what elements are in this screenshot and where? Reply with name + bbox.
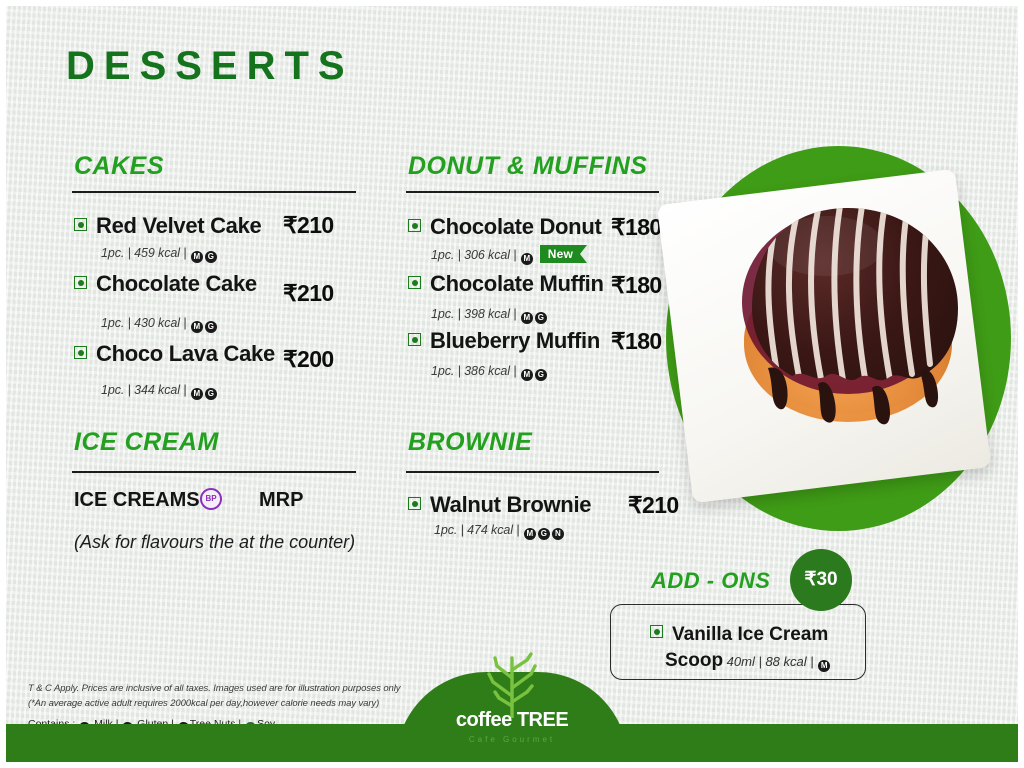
addon-item-meta: 40ml | 88 kcal |: [723, 654, 817, 669]
allergen-milk-icon: M: [521, 369, 533, 381]
veg-mark-icon: [408, 276, 421, 289]
terms-line-2: (*An average active adult requires 2000k…: [28, 697, 400, 712]
new-badge: New: [540, 245, 587, 263]
item-name: Chocolate Donut: [430, 214, 602, 239]
item-meta: 1pc. | 398 kcal | MG: [431, 307, 548, 324]
allergen-milk-icon: M: [521, 253, 533, 265]
allergen-milk-icon: M: [521, 312, 533, 324]
allergen-milk-icon: M: [191, 321, 203, 333]
veg-mark-icon: [74, 346, 87, 359]
item-price: ₹210: [283, 280, 334, 307]
item-price: ₹200: [283, 346, 334, 373]
terms-line-1: T & C Apply. Prices are inclusive of all…: [28, 682, 400, 697]
section-divider-ice-cream: [72, 471, 356, 473]
item-price: ₹180: [611, 328, 662, 355]
item-price: ₹180: [611, 214, 662, 241]
menu-item-chocolate-donut: Chocolate Donut: [408, 214, 602, 240]
menu-item-chocolate-cake: Chocolate Cake: [74, 271, 257, 297]
item-price: ₹210: [283, 212, 334, 239]
veg-mark-icon: [650, 625, 663, 638]
item-name: Red Velvet Cake: [96, 213, 262, 238]
section-heading-ice-cream: ICE CREAM: [74, 428, 219, 457]
menu-item-choco-lava-cake: Choco Lava Cake: [74, 341, 275, 367]
item-meta-text: 1pc. | 386 kcal |: [431, 364, 520, 378]
ice-cream-note: (Ask for flavours the at the counter): [74, 532, 355, 553]
logo-tagline: Cafe Gourmet: [407, 735, 617, 744]
bp-certification-icon: BP: [200, 488, 222, 510]
page-title: DESSERTS: [66, 46, 354, 86]
section-divider-brownie: [406, 471, 659, 473]
item-meta-text: 1pc. | 474 kcal |: [434, 523, 523, 537]
allergen-milk-icon: M: [818, 660, 830, 672]
veg-mark-icon: [408, 333, 421, 346]
allergen-milk-icon: M: [524, 528, 536, 540]
allergen-gluten-icon: G: [538, 528, 550, 540]
item-name: Blueberry Muffin: [430, 328, 600, 353]
allergen-gluten-icon: G: [205, 321, 217, 333]
allergen-milk-icon: M: [191, 251, 203, 263]
item-price: ₹180: [611, 272, 662, 299]
chocolate-donut-photo: [722, 192, 974, 444]
terms-and-conditions: T & C Apply. Prices are inclusive of all…: [28, 682, 400, 711]
addons-price-bubble: ₹30: [790, 549, 852, 611]
item-meta-text: 1pc. | 398 kcal |: [431, 307, 520, 321]
logo-word-tree: TREE: [517, 709, 568, 731]
item-meta: 1pc. | 306 kcal | MNew: [431, 245, 587, 265]
allergen-tree-nuts-icon: N: [552, 528, 564, 540]
item-name: Walnut Brownie: [430, 492, 591, 517]
item-meta-text: 1pc. | 430 kcal |: [101, 316, 190, 330]
veg-mark-icon: [408, 219, 421, 232]
section-divider-donut-muffins: [406, 191, 659, 193]
addon-item-line1: Vanilla Ice Cream: [650, 624, 828, 646]
item-meta: 1pc. | 344 kcal | MG: [101, 383, 218, 400]
menu-item-walnut-brownie: Walnut Brownie: [408, 492, 591, 518]
section-heading-donut-muffins: DONUT & MUFFINS: [408, 152, 647, 181]
item-name: Chocolate Muffin: [430, 271, 604, 296]
item-meta: 1pc. | 386 kcal | MG: [431, 364, 548, 381]
item-meta: 1pc. | 474 kcal | MGN: [434, 523, 565, 540]
allergen-gluten-icon: G: [205, 388, 217, 400]
item-meta-text: 1pc. | 306 kcal |: [431, 248, 520, 262]
veg-mark-icon: [74, 276, 87, 289]
allergen-gluten-icon: G: [535, 369, 547, 381]
section-heading-brownie: BROWNIE: [408, 428, 532, 457]
section-divider-cakes: [72, 191, 356, 193]
veg-mark-icon: [74, 218, 87, 231]
allergen-milk-icon: M: [191, 388, 203, 400]
allergen-gluten-icon: G: [535, 312, 547, 324]
addons-heading: ADD - ONS: [651, 568, 770, 594]
item-name: Choco Lava Cake: [96, 341, 275, 366]
item-meta: 1pc. | 430 kcal | MG: [101, 316, 218, 333]
section-heading-cakes: CAKES: [74, 152, 164, 181]
ice-cream-price: MRP: [259, 489, 303, 512]
allergen-gluten-icon: G: [205, 251, 217, 263]
item-price: ₹210: [628, 492, 679, 519]
menu-item-chocolate-muffin: Chocolate Muffin: [408, 271, 604, 297]
menu-item-red-velvet-cake: Red Velvet Cake: [74, 213, 262, 239]
addon-item-name: Vanilla Ice Cream: [672, 624, 828, 645]
addon-item-name2: Scoop: [665, 650, 723, 671]
item-meta: 1pc. | 459 kcal | MG: [101, 246, 218, 263]
menu-page: DESSERTS CAKES Red Velvet Cake ₹210 1pc.…: [6, 6, 1018, 762]
veg-mark-icon: [408, 497, 421, 510]
brand-logo: coffee TREE Cafe Gourmet: [407, 662, 617, 748]
ice-cream-item-label: ICE CREAMS: [74, 489, 200, 512]
menu-item-blueberry-muffin: Blueberry Muffin: [408, 328, 600, 354]
logo-word-coffee: coffee: [456, 709, 512, 731]
item-name: Chocolate Cake: [96, 271, 257, 296]
item-meta-text: 1pc. | 459 kcal |: [101, 246, 190, 260]
logo-text: coffee TREE: [407, 709, 617, 732]
item-meta-text: 1pc. | 344 kcal |: [101, 383, 190, 397]
addon-item-line2: Scoop 40ml | 88 kcal | M: [665, 650, 831, 672]
